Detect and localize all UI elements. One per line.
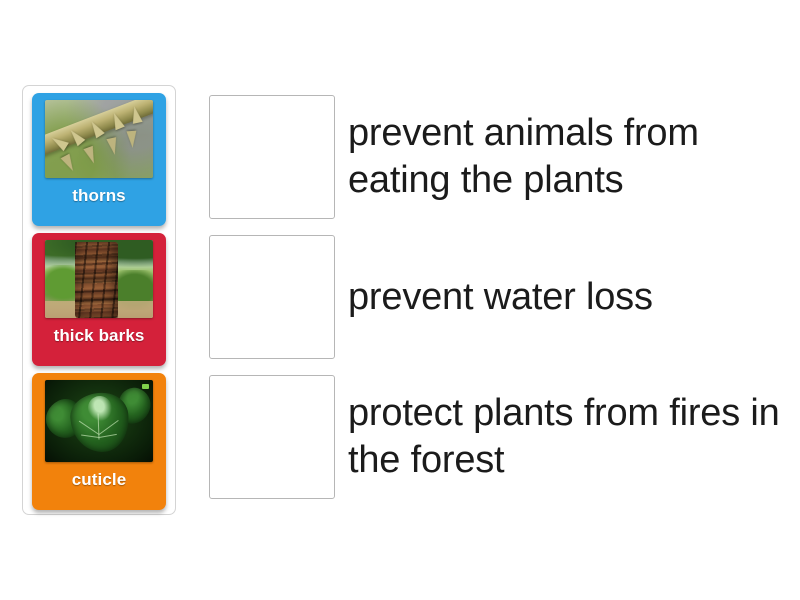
activity-canvas: thorns thick barks	[0, 0, 800, 600]
draggable-tile-cuticle[interactable]: cuticle	[32, 373, 166, 510]
drop-zone-1[interactable]	[209, 95, 335, 219]
answer-row: prevent animals from eating the plants	[209, 95, 798, 219]
thorn-spike-icon	[106, 137, 119, 156]
ivy-leaf-photo	[45, 380, 153, 462]
answer-text-1: prevent animals from eating the plants	[348, 110, 798, 204]
tree-trunk-shape	[75, 242, 118, 318]
tile-label: thick barks	[39, 325, 159, 347]
thorny-branch-photo	[45, 100, 153, 178]
pine-trunk-photo	[45, 240, 153, 318]
tile-label: thorns	[39, 185, 159, 207]
drop-zone-2[interactable]	[209, 235, 335, 359]
leaf-speck-shape	[142, 384, 149, 389]
answer-text-3: protect plants from fires in the forest	[348, 390, 798, 484]
draggable-tile-thick-barks[interactable]: thick barks	[32, 233, 166, 366]
answer-row: protect plants from fires in the forest	[209, 375, 798, 499]
thorn-spike-icon	[61, 153, 78, 173]
thorn-spike-icon	[83, 146, 98, 165]
drop-zone-3[interactable]	[209, 375, 335, 499]
tile-label: cuticle	[39, 469, 159, 491]
answer-text-2: prevent water loss	[348, 274, 653, 321]
answer-row: prevent water loss	[209, 235, 653, 359]
tile-tray: thorns thick barks	[22, 85, 176, 515]
draggable-tile-thorns[interactable]: thorns	[32, 93, 166, 226]
thorn-spike-icon	[126, 131, 137, 149]
